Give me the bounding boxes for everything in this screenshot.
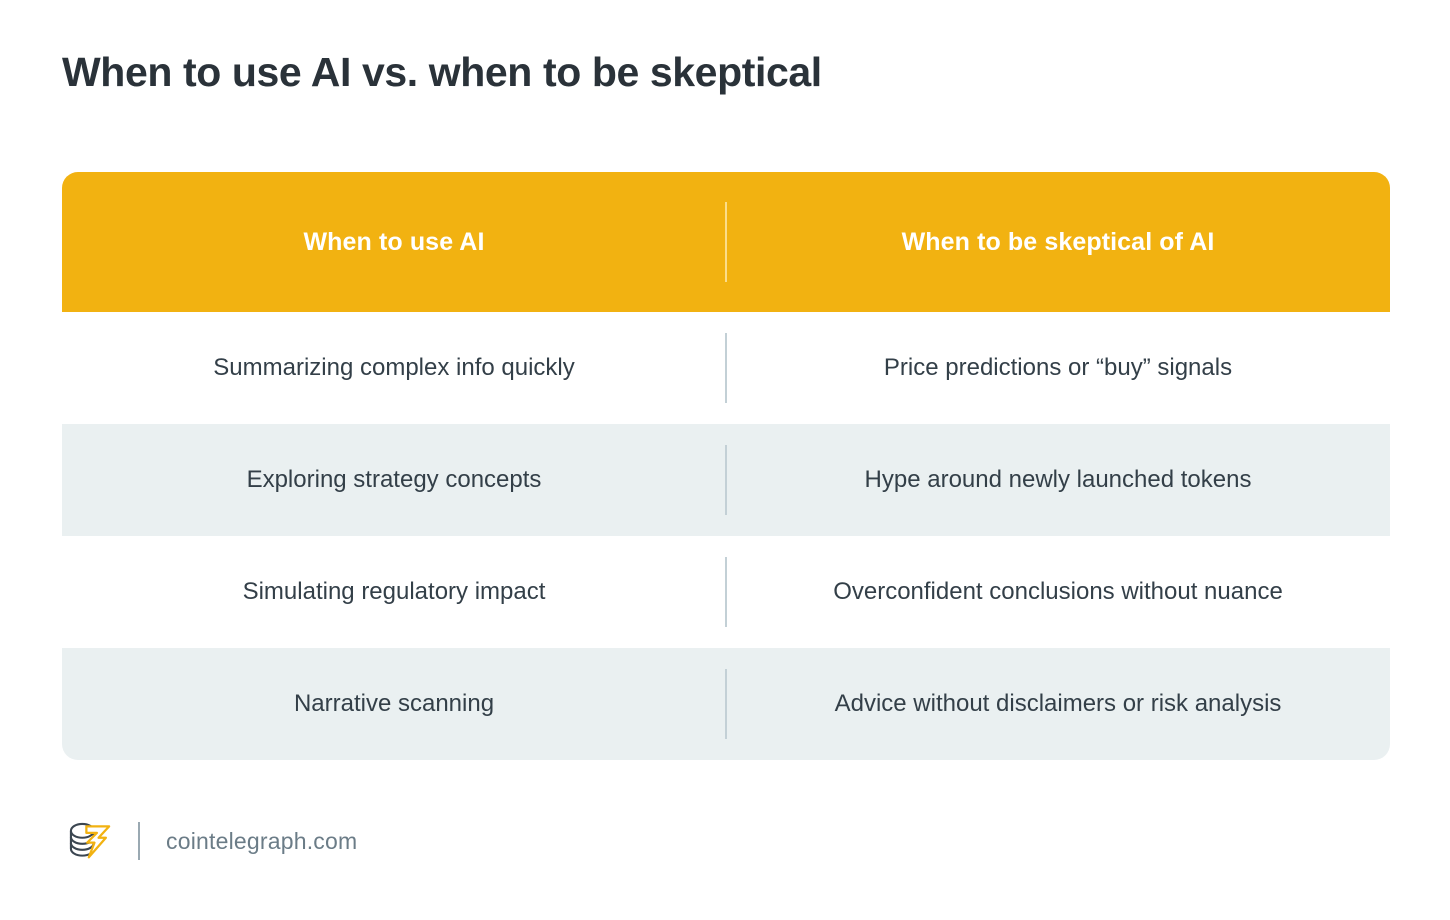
cointelegraph-logo-icon xyxy=(62,815,114,867)
table-cell-skeptical: Advice without disclaimers or risk analy… xyxy=(726,648,1390,760)
table-row: Exploring strategy concepts Hype around … xyxy=(62,424,1390,536)
table-cell-text: Advice without disclaimers or risk analy… xyxy=(835,688,1282,719)
row-column-divider xyxy=(725,557,727,627)
table-row: Narrative scanning Advice without discla… xyxy=(62,648,1390,760)
table-cell-use-ai: Simulating regulatory impact xyxy=(62,536,726,648)
header-column-divider xyxy=(725,202,727,282)
table-cell-skeptical: Price predictions or “buy” signals xyxy=(726,312,1390,424)
table-header-cell-use-ai: When to use AI xyxy=(62,172,726,312)
table-cell-text: Narrative scanning xyxy=(294,688,494,719)
footer-divider xyxy=(138,822,140,860)
table-row: Simulating regulatory impact Overconfide… xyxy=(62,536,1390,648)
footer-url-label: cointelegraph.com xyxy=(166,828,357,855)
table-cell-use-ai: Exploring strategy concepts xyxy=(62,424,726,536)
row-column-divider xyxy=(725,445,727,515)
row-column-divider xyxy=(725,669,727,739)
table-cell-use-ai: Narrative scanning xyxy=(62,648,726,760)
table-header-cell-skeptical: When to be skeptical of AI xyxy=(726,172,1390,312)
table-cell-text: Overconfident conclusions without nuance xyxy=(833,576,1283,607)
table-cell-text: Hype around newly launched tokens xyxy=(865,464,1252,495)
table-cell-text: Simulating regulatory impact xyxy=(243,576,546,607)
row-column-divider xyxy=(725,333,727,403)
table-cell-use-ai: Summarizing complex info quickly xyxy=(62,312,726,424)
table-cell-text: Exploring strategy concepts xyxy=(247,464,542,495)
table-cell-text: Summarizing complex info quickly xyxy=(213,352,574,383)
page-title: When to use AI vs. when to be skeptical xyxy=(62,48,1382,96)
comparison-table: When to use AI When to be skeptical of A… xyxy=(62,172,1390,760)
footer-brand: cointelegraph.com xyxy=(62,810,357,872)
infographic-page: When to use AI vs. when to be skeptical … xyxy=(0,0,1450,920)
table-header-row: When to use AI When to be skeptical of A… xyxy=(62,172,1390,312)
table-header-label-use-ai: When to use AI xyxy=(303,228,484,257)
table-row: Summarizing complex info quickly Price p… xyxy=(62,312,1390,424)
table-cell-text: Price predictions or “buy” signals xyxy=(884,352,1232,383)
table-cell-skeptical: Hype around newly launched tokens xyxy=(726,424,1390,536)
table-header-label-skeptical: When to be skeptical of AI xyxy=(902,228,1215,257)
table-cell-skeptical: Overconfident conclusions without nuance xyxy=(726,536,1390,648)
